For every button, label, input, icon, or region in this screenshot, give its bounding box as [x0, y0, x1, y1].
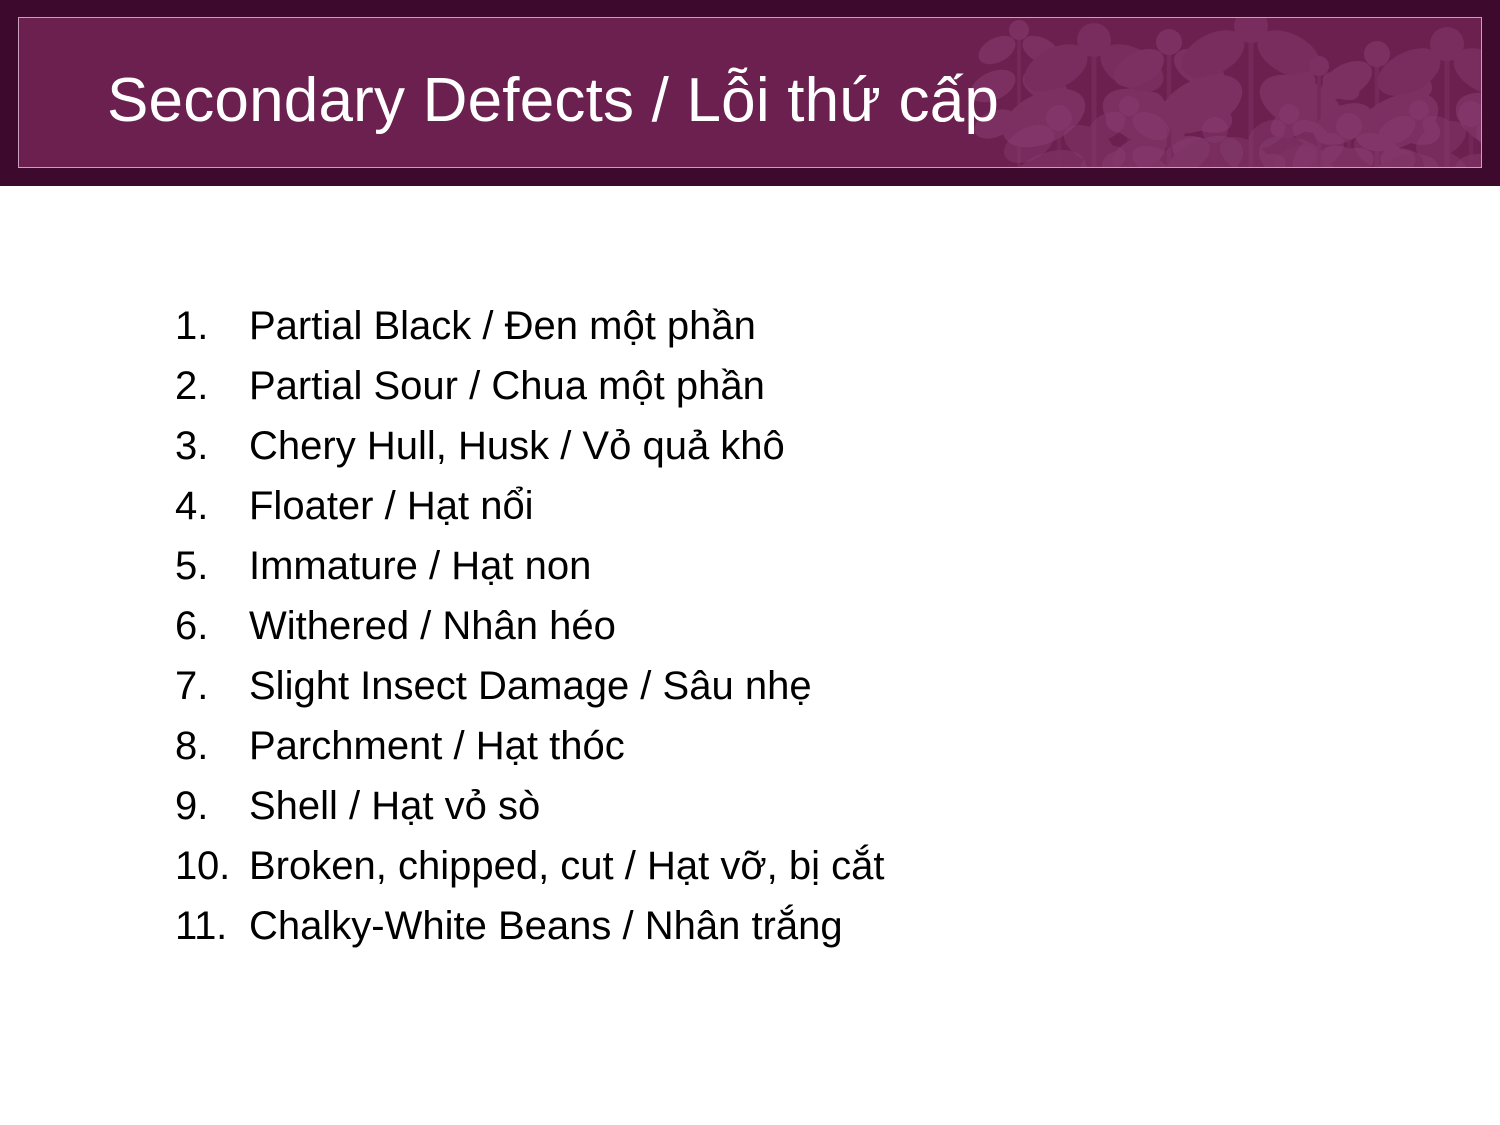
list-item: 10.Broken, chipped, cut / Hạt vỡ, bị cắt [175, 836, 1375, 896]
list-item-number: 5. [175, 536, 249, 596]
list-item-label: Partial Sour / Chua một phần [249, 364, 765, 408]
list-item: 4.Floater / Hạt nổi [175, 476, 1375, 536]
list-item-label: Withered / Nhân héo [249, 604, 616, 648]
list-item: 11.Chalky-White Beans / Nhân trắng [175, 896, 1375, 956]
list-item-label: Chalky-White Beans / Nhân trắng [249, 904, 843, 948]
slide: Secondary Defects / Lỗi thứ cấp 1.Partia… [0, 0, 1500, 1125]
list-item: 5.Immature / Hạt non [175, 536, 1375, 596]
list-item: 1.Partial Black / Đen một phần [175, 296, 1375, 356]
list-item: 6.Withered / Nhân héo [175, 596, 1375, 656]
list-item-number: 11. [175, 896, 249, 956]
list-item-number: 9. [175, 776, 249, 836]
page-title: Secondary Defects / Lỗi thứ cấp [107, 68, 999, 133]
list-item-number: 1. [175, 296, 249, 356]
list-item-label: Broken, chipped, cut / Hạt vỡ, bị cắt [249, 844, 884, 888]
slide-content: 1.Partial Black / Đen một phần 2.Partial… [0, 186, 1500, 1125]
slide-header-inner-frame: Secondary Defects / Lỗi thứ cấp [18, 17, 1482, 168]
list-item-number: 8. [175, 716, 249, 776]
list-item-number: 4. [175, 476, 249, 536]
list-item-label: Partial Black / Đen một phần [249, 304, 756, 348]
list-item: 2.Partial Sour / Chua một phần [175, 356, 1375, 416]
list-item-label: Chery Hull, Husk / Vỏ quả khô [249, 424, 785, 468]
list-item-number: 6. [175, 596, 249, 656]
list-item: 7.Slight Insect Damage / Sâu nhẹ [175, 656, 1375, 716]
list-item: 8.Parchment / Hạt thóc [175, 716, 1375, 776]
slide-header-band: Secondary Defects / Lỗi thứ cấp [0, 0, 1500, 186]
list-item-label: Immature / Hạt non [249, 544, 591, 588]
list-item: 3.Chery Hull, Husk / Vỏ quả khô [175, 416, 1375, 476]
list-item-label: Slight Insect Damage / Sâu nhẹ [249, 664, 812, 708]
list-item-label: Floater / Hạt nổi [249, 484, 534, 528]
list-item-number: 7. [175, 656, 249, 716]
list-item-number: 3. [175, 416, 249, 476]
list-item-number: 2. [175, 356, 249, 416]
secondary-defects-list: 1.Partial Black / Đen một phần 2.Partial… [175, 296, 1375, 956]
list-item-number: 10. [175, 836, 249, 896]
list-item-label: Parchment / Hạt thóc [249, 724, 625, 768]
list-item-label: Shell / Hạt vỏ sò [249, 784, 540, 828]
list-item: 9.Shell / Hạt vỏ sò [175, 776, 1375, 836]
